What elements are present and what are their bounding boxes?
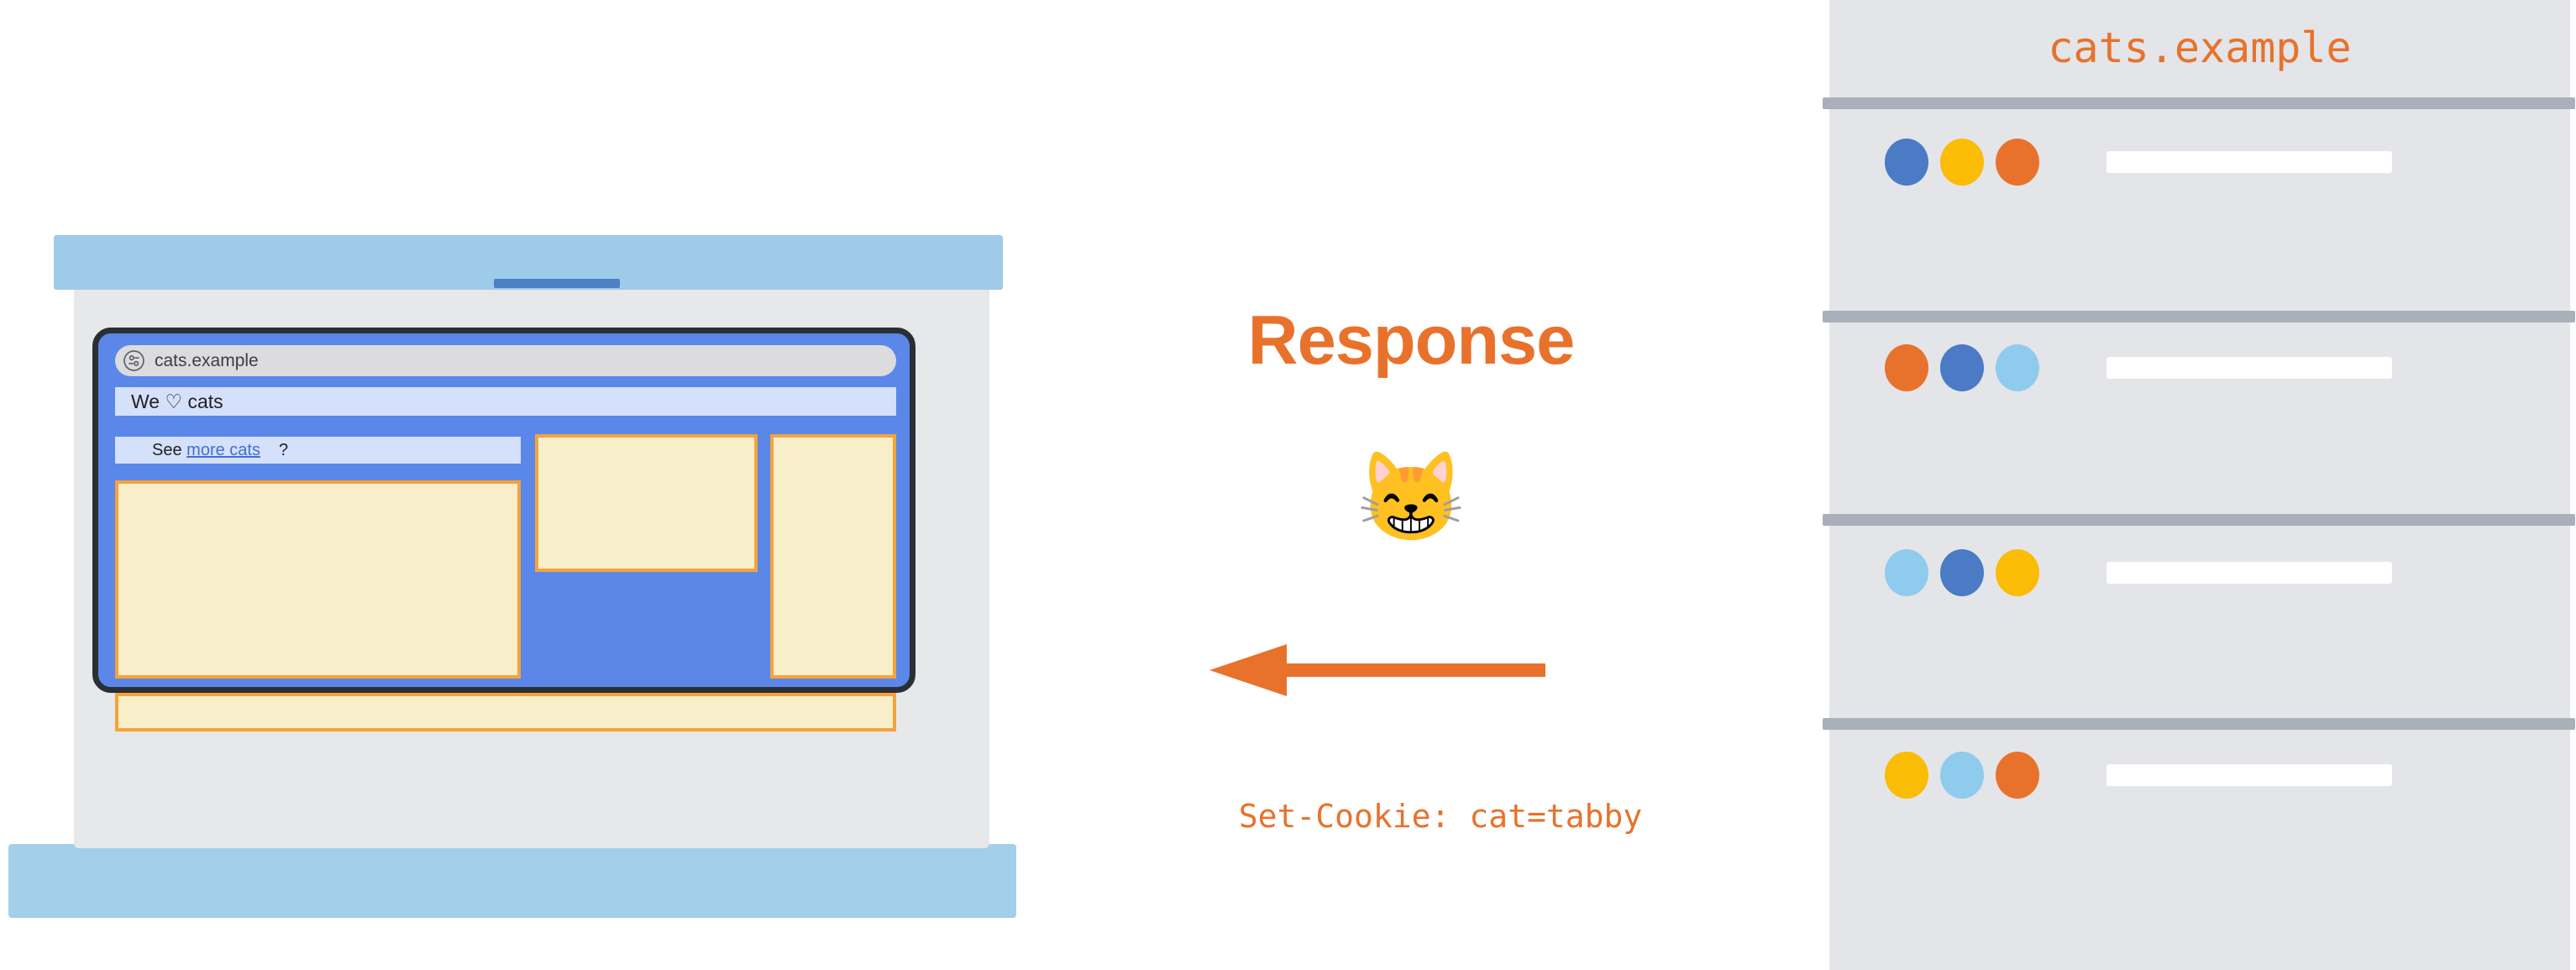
record-text-bar — [2106, 357, 2392, 379]
server-title: cats.example — [1829, 24, 2570, 72]
record-dot — [1885, 139, 1928, 186]
left-arrow-icon — [1209, 640, 1545, 700]
record-text-bar — [2106, 764, 2392, 786]
record-dot — [1996, 549, 2039, 596]
record-dot — [1940, 139, 1984, 186]
page-heading-text: We ♡ cats — [131, 391, 223, 413]
server-record-row[interactable] — [1829, 338, 2570, 397]
laptop-base — [8, 844, 1016, 918]
set-cookie-header: Set-Cookie: cat=tabby — [1092, 798, 1789, 835]
response-title: Response — [1092, 300, 1730, 380]
link-line: See more cats? — [134, 441, 288, 460]
record-text-bar — [2106, 151, 2392, 173]
page-link-block: See more cats? — [115, 437, 521, 464]
server-record-row[interactable] — [1829, 543, 2570, 602]
record-dot — [1996, 139, 2039, 186]
laptop-illustration: cats.example We ♡ cats See more cats? — [0, 210, 1050, 924]
cat-emoji: 😸 — [1092, 454, 1730, 542]
record-dot — [1885, 549, 1928, 596]
record-dot — [1885, 752, 1928, 799]
record-dot — [1996, 752, 2039, 799]
server-record-row[interactable] — [1829, 746, 2570, 805]
address-bar-value: cats.example — [155, 351, 259, 371]
server-panel: cats.example — [1829, 0, 2570, 970]
link-line-suffix: ? — [279, 441, 288, 459]
record-dot — [1885, 344, 1928, 391]
record-dot — [1940, 344, 1984, 391]
scribble-mark — [494, 279, 620, 288]
site-settings-icon[interactable] — [123, 349, 145, 372]
response-section: Response 😸 Set-Cookie: cat=tabby — [1092, 0, 1730, 970]
content-block-left — [115, 480, 521, 679]
server-record-row[interactable] — [1829, 133, 2570, 191]
content-block-right — [770, 434, 896, 679]
record-dot — [1940, 549, 1984, 596]
more-cats-link[interactable]: more cats — [186, 441, 260, 459]
link-line-prefix: See — [152, 441, 186, 459]
server-divider — [1823, 311, 2575, 322]
server-divider — [1823, 718, 2575, 730]
record-dot — [1996, 344, 2039, 391]
address-bar[interactable]: cats.example — [115, 345, 896, 376]
content-block-footer — [115, 693, 896, 731]
record-text-bar — [2106, 562, 2392, 584]
content-block-middle — [535, 434, 758, 572]
server-divider — [1823, 514, 2575, 526]
laptop-lid-bar — [54, 235, 1003, 290]
server-divider — [1823, 97, 2575, 109]
record-dot — [1940, 752, 1984, 799]
browser-window: cats.example We ♡ cats See more cats? — [92, 328, 916, 693]
page-heading-block: We ♡ cats — [115, 387, 896, 416]
